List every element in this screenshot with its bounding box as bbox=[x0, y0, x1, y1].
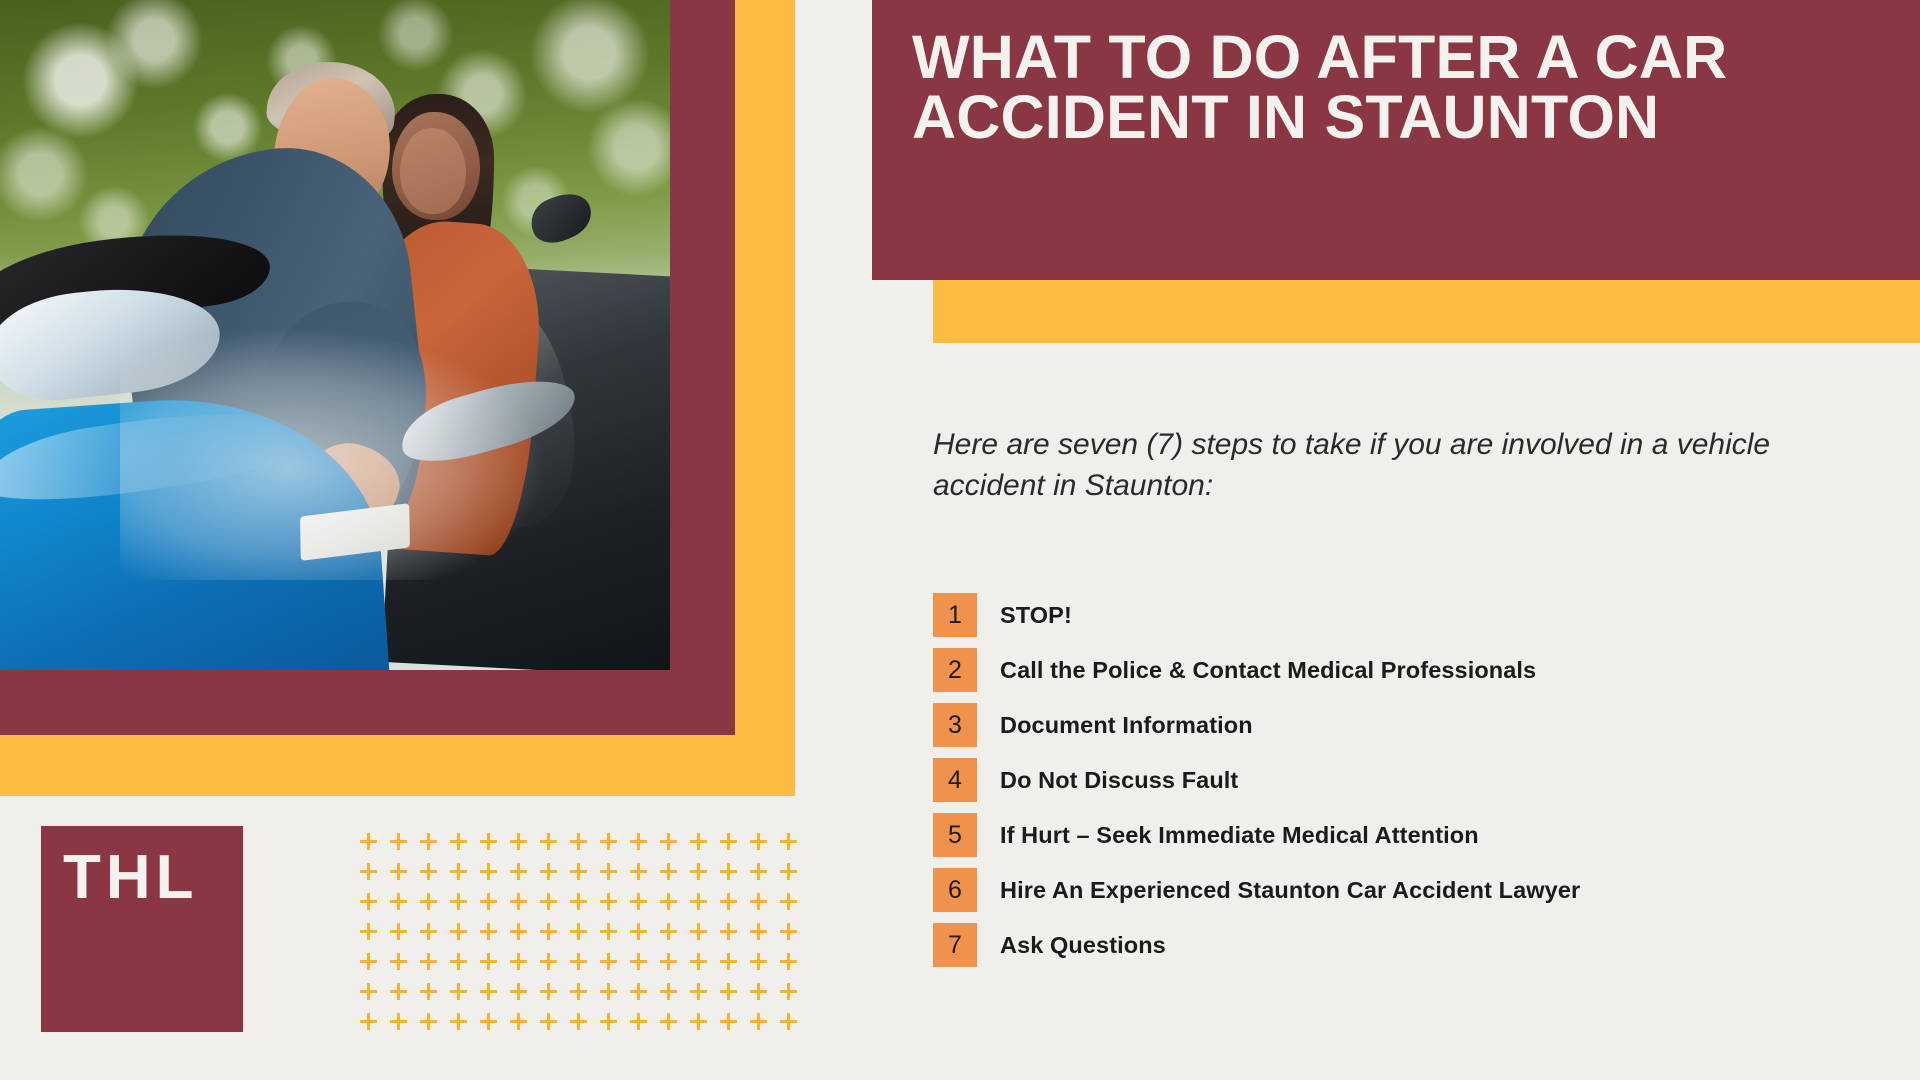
plus-icon bbox=[503, 888, 533, 918]
step-label: STOP! bbox=[1000, 602, 1072, 629]
plus-icon bbox=[353, 918, 383, 948]
title-accent-bar bbox=[933, 280, 1920, 343]
plus-icon bbox=[563, 828, 593, 858]
plus-icon bbox=[653, 858, 683, 888]
plus-icon bbox=[503, 1008, 533, 1038]
plus-icon bbox=[503, 918, 533, 948]
plus-icon bbox=[563, 858, 593, 888]
subtitle-text: Here are seven (7) steps to take if you … bbox=[933, 424, 1833, 507]
logo-text: THL bbox=[63, 847, 199, 909]
plus-icon bbox=[593, 828, 623, 858]
plus-icon bbox=[443, 948, 473, 978]
step-number-badge: 6 bbox=[933, 868, 977, 912]
plus-icon bbox=[533, 1008, 563, 1038]
plus-icon bbox=[533, 858, 563, 888]
plus-icon bbox=[713, 858, 743, 888]
plus-icon bbox=[413, 1008, 443, 1038]
plus-icon bbox=[383, 948, 413, 978]
plus-icon bbox=[773, 918, 803, 948]
plus-icon bbox=[623, 918, 653, 948]
page-title: WHAT TO DO AFTER A CAR ACCIDENT IN STAUN… bbox=[912, 28, 1880, 148]
plus-icon bbox=[773, 888, 803, 918]
plus-icon bbox=[473, 828, 503, 858]
step-label: If Hurt – Seek Immediate Medical Attenti… bbox=[1000, 822, 1479, 849]
plus-icon bbox=[713, 888, 743, 918]
plus-icon bbox=[743, 918, 773, 948]
plus-icon bbox=[593, 948, 623, 978]
plus-icon bbox=[683, 948, 713, 978]
plus-icon bbox=[413, 888, 443, 918]
plus-icon bbox=[443, 978, 473, 1008]
plus-icon bbox=[743, 828, 773, 858]
plus-icon bbox=[563, 978, 593, 1008]
plus-icon bbox=[473, 1008, 503, 1038]
plus-icon bbox=[593, 858, 623, 888]
photo-woman-face bbox=[400, 128, 466, 214]
plus-icon bbox=[563, 948, 593, 978]
plus-icon bbox=[443, 918, 473, 948]
plus-icon bbox=[473, 888, 503, 918]
plus-icon bbox=[353, 828, 383, 858]
infographic-canvas: WHAT TO DO AFTER A CAR ACCIDENT IN STAUN… bbox=[0, 0, 1920, 1080]
list-item: 1 STOP! bbox=[933, 593, 1893, 637]
plus-icon bbox=[713, 978, 743, 1008]
list-item: 6 Hire An Experienced Staunton Car Accid… bbox=[933, 868, 1893, 912]
list-item: 4 Do Not Discuss Fault bbox=[933, 758, 1893, 802]
step-label: Call the Police & Contact Medical Profes… bbox=[1000, 657, 1536, 684]
plus-icon bbox=[653, 1008, 683, 1038]
plus-icon bbox=[593, 918, 623, 948]
plus-icon bbox=[683, 1008, 713, 1038]
step-number-badge: 7 bbox=[933, 923, 977, 967]
plus-icon bbox=[773, 858, 803, 888]
list-item: 5 If Hurt – Seek Immediate Medical Atten… bbox=[933, 813, 1893, 857]
plus-icon bbox=[713, 948, 743, 978]
step-label: Document Information bbox=[1000, 712, 1253, 739]
step-label: Do Not Discuss Fault bbox=[1000, 767, 1238, 794]
plus-icon bbox=[533, 918, 563, 948]
plus-icon bbox=[683, 858, 713, 888]
plus-icon bbox=[473, 858, 503, 888]
plus-icon bbox=[413, 918, 443, 948]
plus-icon bbox=[653, 948, 683, 978]
plus-icon bbox=[353, 888, 383, 918]
plus-icon bbox=[623, 978, 653, 1008]
plus-icon bbox=[503, 948, 533, 978]
plus-icon bbox=[353, 948, 383, 978]
plus-icon bbox=[413, 978, 443, 1008]
plus-icon bbox=[353, 1008, 383, 1038]
plus-icon bbox=[683, 828, 713, 858]
plus-icon bbox=[383, 828, 413, 858]
plus-icon bbox=[593, 888, 623, 918]
plus-icon bbox=[683, 888, 713, 918]
plus-icon bbox=[683, 918, 713, 948]
plus-icon bbox=[383, 858, 413, 888]
plus-icon bbox=[533, 828, 563, 858]
plus-icon bbox=[713, 828, 743, 858]
plus-icon bbox=[623, 1008, 653, 1038]
plus-icon bbox=[503, 858, 533, 888]
plus-icon bbox=[623, 828, 653, 858]
plus-icon bbox=[473, 918, 503, 948]
plus-icon bbox=[563, 1008, 593, 1038]
accident-photo-illustration bbox=[0, 0, 670, 670]
step-number-badge: 5 bbox=[933, 813, 977, 857]
plus-icon bbox=[653, 888, 683, 918]
plus-icon bbox=[443, 858, 473, 888]
step-label: Ask Questions bbox=[1000, 932, 1166, 959]
plus-icon bbox=[443, 888, 473, 918]
plus-icon bbox=[533, 948, 563, 978]
plus-icon bbox=[713, 1008, 743, 1038]
plus-icon bbox=[443, 1008, 473, 1038]
list-item: 2 Call the Police & Contact Medical Prof… bbox=[933, 648, 1893, 692]
photo-smoke bbox=[120, 330, 540, 580]
plus-icon bbox=[413, 828, 443, 858]
plus-icon bbox=[773, 948, 803, 978]
step-number-badge: 2 bbox=[933, 648, 977, 692]
plus-icon bbox=[383, 978, 413, 1008]
plus-icon bbox=[593, 1008, 623, 1038]
plus-icon bbox=[773, 1008, 803, 1038]
plus-icon bbox=[623, 858, 653, 888]
plus-icon bbox=[413, 948, 443, 978]
plus-icon bbox=[353, 858, 383, 888]
step-number-badge: 3 bbox=[933, 703, 977, 747]
plus-icon bbox=[713, 918, 743, 948]
step-number-badge: 1 bbox=[933, 593, 977, 637]
plus-icon bbox=[443, 828, 473, 858]
plus-icon bbox=[413, 858, 443, 888]
plus-icon bbox=[773, 978, 803, 1008]
plus-icon bbox=[653, 828, 683, 858]
plus-icon bbox=[623, 888, 653, 918]
plus-icon bbox=[353, 978, 383, 1008]
step-label: Hire An Experienced Staunton Car Acciden… bbox=[1000, 877, 1580, 904]
plus-icon bbox=[653, 918, 683, 948]
plus-icon bbox=[743, 858, 773, 888]
plus-icon bbox=[563, 918, 593, 948]
plus-icon bbox=[683, 978, 713, 1008]
plus-icon bbox=[473, 978, 503, 1008]
plus-icon bbox=[743, 1008, 773, 1038]
logo-block: THL bbox=[41, 826, 243, 1032]
accident-photo bbox=[0, 0, 670, 670]
plus-icon bbox=[473, 948, 503, 978]
decor-plus-grid bbox=[353, 828, 803, 1038]
plus-icon bbox=[623, 948, 653, 978]
plus-icon bbox=[383, 1008, 413, 1038]
plus-icon bbox=[773, 828, 803, 858]
plus-icon bbox=[503, 978, 533, 1008]
plus-icon bbox=[653, 978, 683, 1008]
plus-icon bbox=[743, 978, 773, 1008]
title-banner: WHAT TO DO AFTER A CAR ACCIDENT IN STAUN… bbox=[872, 0, 1920, 280]
plus-icon bbox=[743, 888, 773, 918]
plus-icon bbox=[533, 888, 563, 918]
steps-list: 1 STOP! 2 Call the Police & Contact Medi… bbox=[933, 593, 1893, 978]
plus-icon bbox=[533, 978, 563, 1008]
plus-icon bbox=[383, 918, 413, 948]
plus-icon bbox=[503, 828, 533, 858]
plus-icon bbox=[593, 978, 623, 1008]
plus-icon bbox=[743, 948, 773, 978]
list-item: 7 Ask Questions bbox=[933, 923, 1893, 967]
plus-icon bbox=[563, 888, 593, 918]
list-item: 3 Document Information bbox=[933, 703, 1893, 747]
step-number-badge: 4 bbox=[933, 758, 977, 802]
plus-icon bbox=[383, 888, 413, 918]
